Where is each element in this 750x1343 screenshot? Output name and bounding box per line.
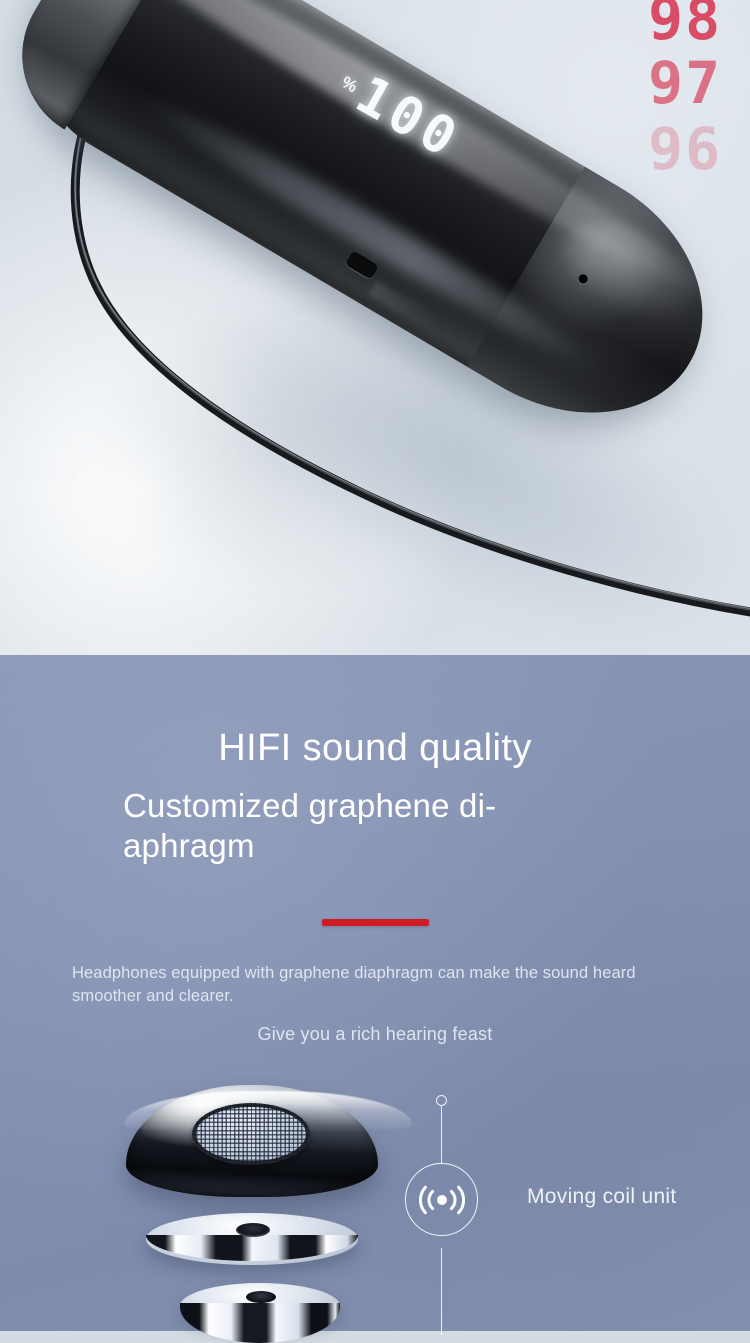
- battery-readout-column: 98 97 96: [648, 0, 722, 178]
- promo-headline: HIFI sound quality: [0, 655, 750, 770]
- readout-value-1: 98: [648, 0, 722, 48]
- promo-tagline: Give you a rich hearing feast: [0, 1024, 750, 1045]
- callout-endpoint-dot: [436, 1095, 447, 1106]
- moving-coil-callout: Moving coil unit: [405, 1085, 750, 1335]
- diaphragm-plate-hole: [236, 1223, 270, 1237]
- callout-leader-line-upper: [441, 1106, 442, 1164]
- speaker-mesh-grille: [192, 1103, 310, 1165]
- exploded-driver-diagram: [118, 1085, 418, 1335]
- magnet-unit-edge: [180, 1303, 340, 1343]
- callout-label: Moving coil unit: [527, 1185, 677, 1209]
- promo-body-copy: Headphones equipped with graphene diaphr…: [72, 962, 644, 1009]
- readout-value-3: 96: [648, 120, 722, 178]
- magnet-unit-hole: [246, 1291, 276, 1303]
- readout-value-2: 97: [648, 54, 722, 112]
- promo-subheadline: Customized graphene di-aphragm: [123, 786, 543, 867]
- callout-leader-line-lower: [441, 1248, 442, 1335]
- callout-icon-ring: [405, 1163, 478, 1236]
- red-accent-bar: [322, 919, 429, 926]
- sound-wave-icon: [419, 1183, 465, 1217]
- product-hero-section: % 100 98 97 96: [0, 0, 750, 655]
